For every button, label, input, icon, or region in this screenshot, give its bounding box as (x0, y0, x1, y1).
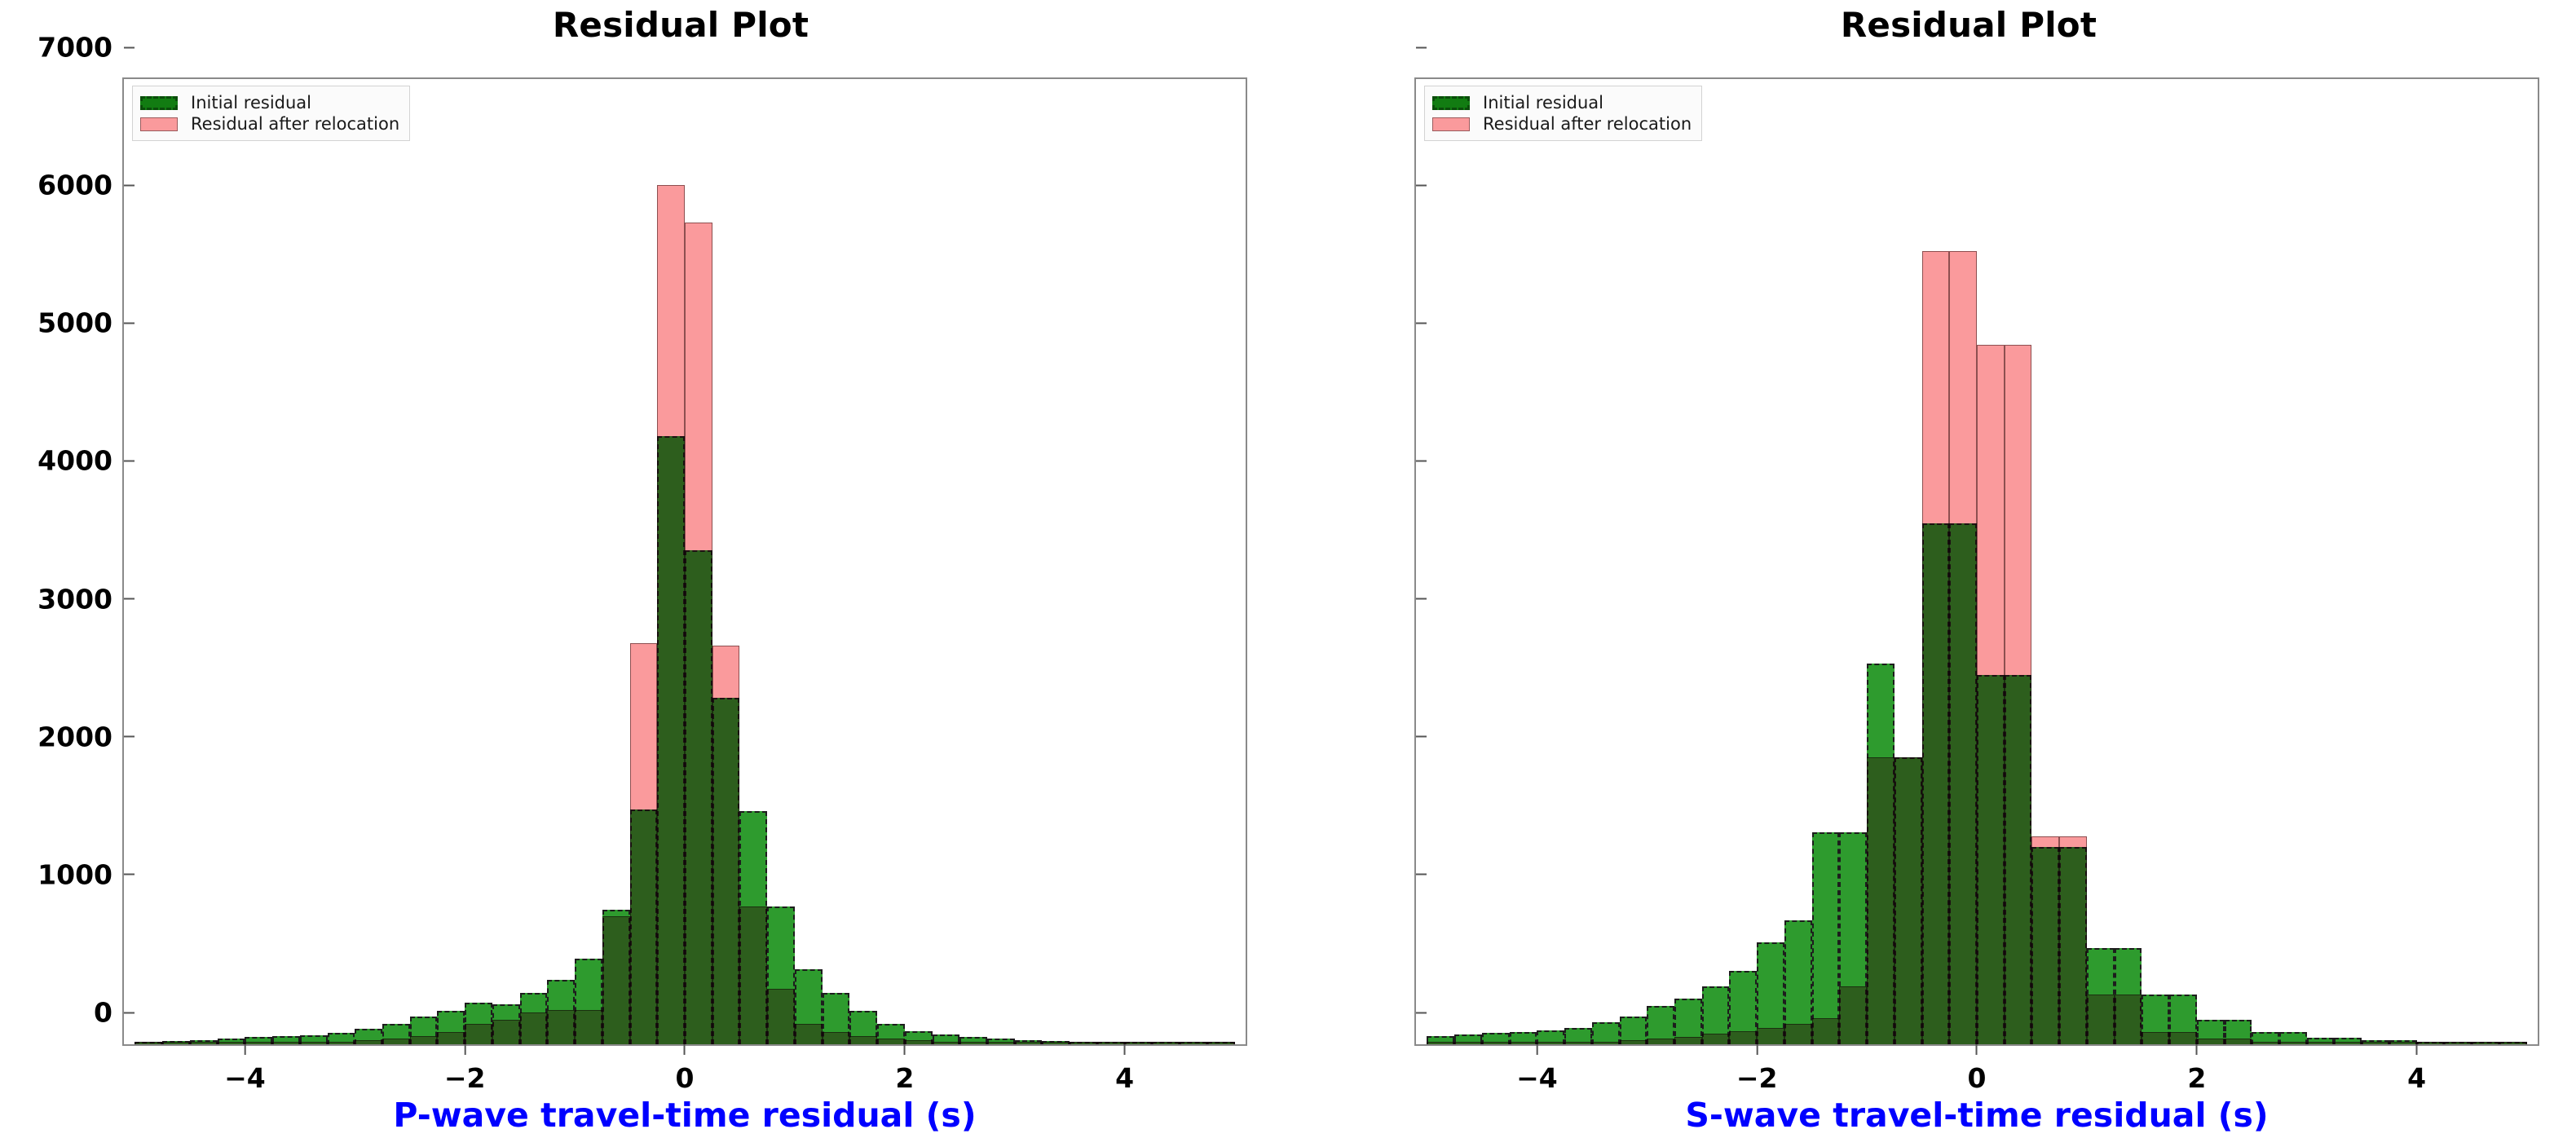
x-axis-tick-mark (244, 1044, 245, 1055)
histogram-bar-residual-after-relocation (1015, 1042, 1043, 1044)
histogram-bars-s-wave (1416, 79, 2538, 1044)
y-axis-tick-mark (124, 874, 135, 876)
histogram-bar-residual-after-relocation (1977, 345, 2005, 1044)
histogram-bar-residual-after-relocation (575, 1010, 602, 1044)
x-axis-tick-mark (464, 1044, 465, 1055)
x-axis-tick-label: 2 (895, 1062, 914, 1094)
histogram-bar-residual-after-relocation (382, 1039, 410, 1044)
histogram-bars-p-wave (124, 79, 1246, 1044)
x-axis-tick-mark (2196, 1044, 2198, 1055)
y-axis-tick-mark (124, 322, 135, 324)
histogram-bar-residual-after-relocation (1592, 1042, 1620, 1044)
histogram-bar-residual-after-relocation (1180, 1042, 1207, 1044)
y-axis-tick-mark (1416, 322, 1427, 324)
y-axis-tick: 7000 (1220, 32, 1416, 64)
histogram-bar-residual-after-relocation (2197, 1039, 2225, 1044)
y-axis-tick-mark (124, 736, 135, 738)
x-axis-tick: 0 (676, 1044, 695, 1094)
plot-area-p-wave: 01000200030004000500060007000 −4−2024 In… (122, 77, 1247, 1046)
histogram-bar-residual-after-relocation (1647, 1039, 1674, 1044)
histogram-bar-residual-after-relocation (1757, 1028, 1784, 1044)
x-axis-tick-mark (2416, 1044, 2418, 1055)
histogram-bar-residual-after-relocation (823, 1032, 850, 1044)
histogram-bar-residual-after-relocation (933, 1042, 960, 1044)
x-axis-tick-mark (904, 1044, 906, 1055)
legend-label-initial-residual: Initial residual (191, 93, 311, 112)
histogram-bar-residual-after-relocation (2417, 1042, 2445, 1044)
x-axis-tick: 2 (895, 1044, 914, 1094)
y-axis-tick: 3000 (1220, 583, 1416, 615)
legend-s-wave: Initial residual Residual after relocati… (1424, 86, 1702, 141)
histogram-bar-residual-after-relocation (2279, 1042, 2307, 1044)
histogram-bar-residual-after-relocation (355, 1040, 382, 1044)
histogram-bar-residual-after-relocation (1070, 1042, 1097, 1044)
residual-plot-figure: Residual Plot Number of observations 010… (0, 0, 2576, 1138)
histogram-bar-residual-after-relocation (1839, 986, 1867, 1044)
x-axis-tick-label: −2 (444, 1062, 486, 1094)
histogram-bar-residual-after-relocation (162, 1042, 190, 1044)
histogram-bar-residual-after-relocation (905, 1040, 933, 1044)
histogram-bar-residual-after-relocation (959, 1042, 987, 1044)
legend-swatch-pink-icon (1432, 117, 1470, 131)
y-axis-tick: 6000 (1220, 170, 1416, 201)
histogram-bar-residual-after-relocation (465, 1024, 492, 1044)
histogram-bar-residual-after-relocation (218, 1042, 245, 1044)
legend-item-initial-residual: Initial residual (1432, 92, 1692, 113)
legend-label-residual-after-relocation: Residual after relocation (191, 114, 399, 134)
x-axis-tick-label: −4 (224, 1062, 266, 1094)
y-axis-tick-label: 2000 (37, 721, 124, 752)
histogram-bar-residual-after-relocation (2444, 1042, 2472, 1044)
histogram-bar-residual-after-relocation (2031, 836, 2059, 1044)
y-axis-tick-mark (1416, 46, 1427, 48)
histogram-bar-residual-after-relocation (849, 1036, 877, 1044)
legend-label-initial-residual: Initial residual (1483, 93, 1603, 112)
legend-swatch-green-icon (140, 96, 178, 110)
histogram-bar-residual-after-relocation (1564, 1042, 1592, 1044)
histogram-bar-residual-after-relocation (272, 1042, 300, 1044)
panel-p-wave: Residual Plot Number of observations 010… (0, 0, 1288, 1138)
y-axis-tick-mark (1416, 874, 1427, 876)
legend-item-initial-residual: Initial residual (140, 92, 399, 113)
histogram-bar-residual-after-relocation (2059, 836, 2087, 1044)
histogram-bar-residual-after-relocation (2115, 995, 2142, 1044)
x-axis-tick-label: 0 (1968, 1062, 1987, 1094)
x-axis-tick-mark (1536, 1044, 1537, 1055)
x-axis-tick-label: 2 (2187, 1062, 2206, 1094)
y-axis-tick: 5000 (0, 307, 124, 339)
plot-area-s-wave: 01000200030004000500060007000 −4−2024 In… (1414, 77, 2539, 1046)
histogram-bar-residual-after-relocation (437, 1032, 465, 1044)
histogram-bar-residual-after-relocation (685, 223, 712, 1044)
histogram-bar-residual-after-relocation (492, 1020, 520, 1044)
x-axis-tick: −2 (444, 1044, 486, 1094)
y-axis-tick: 4000 (0, 445, 124, 477)
y-axis-tick-label: 5000 (37, 307, 124, 339)
histogram-bar-residual-after-relocation (300, 1042, 328, 1044)
histogram-bar-residual-after-relocation (2087, 995, 2115, 1044)
y-axis-tick-mark (1416, 1012, 1427, 1013)
histogram-bar-residual-after-relocation (1152, 1042, 1180, 1044)
y-axis-tick-mark (1416, 460, 1427, 461)
y-axis-tick: 4000 (1220, 445, 1416, 477)
histogram-bar-residual-after-relocation (520, 1012, 548, 1044)
histogram-bar-residual-after-relocation (795, 1024, 823, 1044)
panel-title-s-wave: Residual Plot (1410, 5, 2527, 45)
histogram-bar-residual-after-relocation (1482, 1042, 1510, 1044)
y-axis-tick-mark (124, 184, 135, 186)
y-axis-tick-mark (124, 598, 135, 600)
histogram-bar-residual-after-relocation (2472, 1042, 2499, 1044)
histogram-bar-residual-after-relocation (1922, 251, 1950, 1044)
histogram-bar-residual-after-relocation (2225, 1039, 2252, 1044)
x-axis-tick-label: −2 (1736, 1062, 1778, 1094)
histogram-bar-residual-after-relocation (877, 1039, 905, 1044)
histogram-bar-residual-after-relocation (1674, 1037, 1702, 1044)
legend-swatch-pink-icon (140, 117, 178, 131)
legend-item-residual-after-relocation: Residual after relocation (1432, 113, 1692, 135)
histogram-bar-residual-after-relocation (547, 1010, 575, 1044)
x-axis-tick-label: 0 (676, 1062, 695, 1094)
x-axis-tick-mark (1976, 1044, 1978, 1055)
histogram-bar-residual-after-relocation (1729, 1031, 1757, 1044)
x-axis-label-s-wave: S-wave travel-time residual (s) (1414, 1096, 2539, 1135)
histogram-bar-residual-after-relocation (1895, 757, 1922, 1044)
histogram-bar-residual-after-relocation (1454, 1042, 1482, 1044)
x-axis-tick: 0 (1968, 1044, 1987, 1094)
y-axis-tick-label: 6000 (37, 170, 124, 201)
histogram-bar-residual-after-relocation (190, 1042, 218, 1044)
legend-p-wave: Initial residual Residual after relocati… (132, 86, 410, 141)
y-axis-tick-mark (1416, 598, 1427, 600)
histogram-bar-residual-after-relocation (602, 916, 630, 1044)
histogram-bar-residual-after-relocation (1207, 1042, 1235, 1044)
histogram-bar-residual-after-relocation (245, 1042, 272, 1044)
y-axis-tick-label: 4000 (37, 445, 124, 477)
histogram-bar-residual-after-relocation (2334, 1042, 2362, 1044)
y-axis-tick-mark (124, 460, 135, 461)
x-axis-tick: −2 (1736, 1044, 1778, 1094)
x-axis-tick: −4 (1516, 1044, 1558, 1094)
histogram-bar-residual-after-relocation (410, 1036, 438, 1044)
panel-s-wave: Residual Plot 01000200030004000500060007… (1288, 0, 2576, 1138)
y-axis-tick-mark (124, 46, 135, 48)
y-axis-tick-label: 7000 (37, 32, 124, 64)
histogram-bar-residual-after-relocation (1867, 757, 1895, 1044)
histogram-bar-residual-after-relocation (1427, 1042, 1454, 1044)
histogram-bar-residual-after-relocation (630, 643, 658, 1044)
y-axis-tick-label: 0 (94, 997, 124, 1029)
y-axis-tick: 7000 (0, 32, 124, 64)
y-axis-tick-mark (1416, 184, 1427, 186)
histogram-bar-residual-after-relocation (2362, 1042, 2389, 1044)
histogram-bar-initial-residual (1812, 832, 1840, 1044)
histogram-bar-residual-after-relocation (2389, 1042, 2417, 1044)
histogram-bar-residual-after-relocation (657, 185, 685, 1044)
histogram-bar-residual-after-relocation (1812, 1018, 1840, 1044)
histogram-bar-residual-after-relocation (328, 1042, 355, 1044)
histogram-bar-residual-after-relocation (767, 989, 795, 1044)
x-axis-tick: 2 (2187, 1044, 2206, 1094)
x-axis-tick: 4 (2407, 1044, 2426, 1094)
histogram-bar-residual-after-relocation (2142, 1032, 2169, 1044)
histogram-bar-residual-after-relocation (1097, 1042, 1125, 1044)
y-axis-tick: 0 (1220, 997, 1416, 1029)
legend-item-residual-after-relocation: Residual after relocation (140, 113, 399, 135)
y-axis-tick: 0 (0, 997, 124, 1029)
y-axis-tick-mark (124, 1012, 135, 1013)
histogram-bar-residual-after-relocation (712, 646, 740, 1044)
y-axis-tick: 1000 (1220, 858, 1416, 890)
histogram-bar-residual-after-relocation (1702, 1034, 1730, 1044)
histogram-bar-residual-after-relocation (1784, 1024, 1812, 1044)
histogram-bar-residual-after-relocation (1125, 1042, 1153, 1044)
x-axis-tick: −4 (224, 1044, 266, 1094)
y-axis-tick: 1000 (0, 858, 124, 890)
histogram-bar-residual-after-relocation (2005, 345, 2032, 1044)
y-axis-tick: 3000 (0, 583, 124, 615)
x-axis-tick-label: 4 (1115, 1062, 1134, 1094)
histogram-bar-residual-after-relocation (739, 906, 767, 1044)
histogram-bar-residual-after-relocation (2252, 1042, 2279, 1044)
histogram-bar-residual-after-relocation (1537, 1042, 1564, 1044)
y-axis-tick-label: 3000 (37, 583, 124, 615)
x-axis-tick-mark (1756, 1044, 1758, 1055)
histogram-bar-residual-after-relocation (1042, 1042, 1070, 1044)
x-axis-tick-mark (1124, 1044, 1126, 1055)
y-axis-tick: 5000 (1220, 307, 1416, 339)
histogram-bar-residual-after-relocation (1620, 1040, 1647, 1044)
x-axis-label-p-wave: P-wave travel-time residual (s) (122, 1096, 1247, 1135)
y-axis-tick-label: 1000 (37, 858, 124, 890)
histogram-bar-residual-after-relocation (135, 1042, 162, 1044)
legend-label-residual-after-relocation: Residual after relocation (1483, 114, 1692, 134)
histogram-bar-residual-after-relocation (2307, 1042, 2335, 1044)
y-axis-tick: 2000 (0, 721, 124, 752)
panel-title-p-wave: Residual Plot (122, 5, 1239, 45)
y-axis-tick: 2000 (1220, 721, 1416, 752)
histogram-bar-residual-after-relocation (1510, 1042, 1537, 1044)
histogram-bar-residual-after-relocation (987, 1042, 1015, 1044)
x-axis-tick: 4 (1115, 1044, 1134, 1094)
histogram-bar-residual-after-relocation (2499, 1042, 2527, 1044)
histogram-bar-residual-after-relocation (1949, 251, 1977, 1044)
x-axis-tick-label: 4 (2407, 1062, 2426, 1094)
legend-swatch-green-icon (1432, 96, 1470, 110)
y-axis-tick: 6000 (0, 170, 124, 201)
y-axis-tick-mark (1416, 736, 1427, 738)
histogram-bar-residual-after-relocation (2169, 1032, 2197, 1044)
x-axis-tick-label: −4 (1516, 1062, 1558, 1094)
x-axis-tick-mark (684, 1044, 686, 1055)
